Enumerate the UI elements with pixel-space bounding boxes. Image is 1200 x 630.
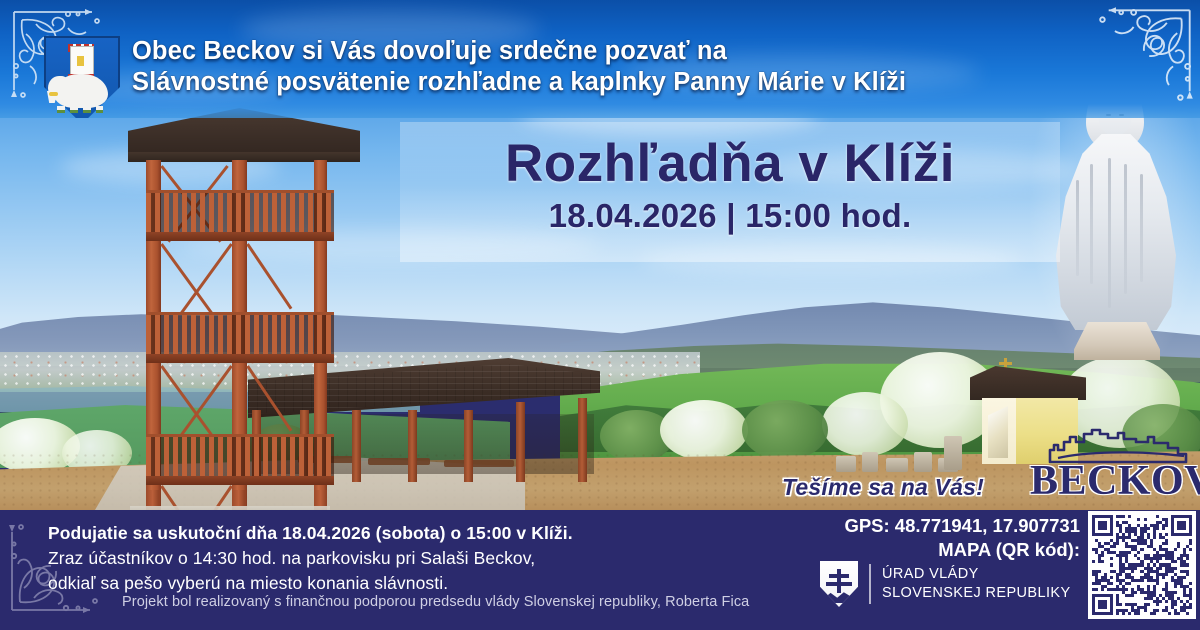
double-cross-arm — [826, 582, 852, 586]
picnic-table — [444, 460, 514, 467]
elephant-hooves — [57, 110, 103, 113]
stone-seat — [914, 452, 932, 472]
gov-line-1: ÚRAD VLÁDY — [882, 565, 1071, 584]
pavilion-column — [408, 410, 417, 482]
wooden-lookout-tower — [128, 108, 360, 510]
map-qr-code[interactable] — [1088, 511, 1196, 619]
tree — [742, 400, 828, 460]
headline-line-1: Obec Beckov si Vás dovoľuje srdečne pozv… — [132, 36, 1092, 67]
detail-line-2: Zraz účastníkov o 14:30 hod. na parkovis… — [48, 546, 768, 571]
robe-fold — [1090, 164, 1093, 284]
gps-coordinates: GPS: 48.771941, 17.907731 — [760, 514, 1080, 538]
statue-robe — [1056, 134, 1176, 330]
tower-railing — [146, 434, 334, 482]
map-qr-label: MAPA (QR kód): — [760, 538, 1080, 562]
gov-line-2: SLOVENSKEJ REPUBLIKY — [882, 584, 1071, 603]
tower-deck — [146, 354, 334, 363]
welcome-text: Tešíme sa na Vás! — [782, 474, 984, 501]
tower-deck — [146, 232, 334, 241]
robe-fold — [1076, 180, 1079, 276]
blossom-tree — [822, 392, 908, 456]
tower-railing — [146, 312, 334, 360]
robe-fold — [1140, 174, 1143, 282]
tower-window — [77, 56, 84, 66]
pavilion-column — [516, 402, 525, 482]
robe-fold — [1124, 164, 1127, 294]
statue-pedestal — [1074, 322, 1160, 360]
stone-seat — [862, 452, 878, 472]
detail-line-3: odkiaľ sa pešo vyberú na miesto konania … — [48, 571, 768, 596]
government-label: ÚRAD VLÁDY SLOVENSKEJ REPUBLIKY — [882, 565, 1071, 603]
pavilion-column — [464, 410, 473, 482]
tower-railing — [146, 190, 334, 238]
gps-block: GPS: 48.771941, 17.907731 MAPA (QR kód): — [760, 514, 1080, 562]
detail-line-1: Podujatie sa uskutoční dňa 18.04.2026 (s… — [48, 521, 768, 546]
event-datetime: 18.04.2026 | 15:00 hod. — [430, 197, 1030, 235]
tower-deck — [146, 476, 334, 485]
tower-brace — [246, 365, 292, 431]
page-title: Rozhľadňa v Klíži — [430, 133, 1030, 194]
stone-pillar — [944, 436, 962, 470]
beckov-logo: BECKOV — [1030, 428, 1198, 506]
event-details: Podujatie sa uskutoční dňa 18.04.2026 (s… — [48, 521, 768, 596]
robe-fold — [1108, 158, 1111, 308]
funding-credit: Projekt bol realizovaný s finančnou podp… — [122, 594, 822, 610]
qr-modules — [1092, 515, 1192, 615]
corner-flourish-icon — [1090, 2, 1198, 110]
headline-line-2: Slávnostné posvätenie rozhľadne a kaplnk… — [132, 67, 1092, 98]
tower-frame — [146, 160, 334, 510]
invitation-headline: Obec Beckov si Vás dovoľuje srdečne pozv… — [132, 36, 1092, 98]
tower-brace — [246, 243, 292, 309]
event-poster: Rozhľadňa v Klíži 18.04.2026 | 15:00 hod… — [0, 0, 1200, 630]
pavilion-column — [578, 398, 587, 482]
blossom-tree — [660, 400, 748, 460]
beckov-wordmark: BECKOV — [1030, 460, 1198, 502]
header-banner: Obec Beckov si Vás dovoľuje srdečne pozv… — [0, 0, 1200, 118]
stone-seat — [886, 458, 908, 472]
slovak-coat-of-arms-icon — [820, 561, 858, 607]
government-logo: ÚRAD VLÁDY SLOVENSKEJ REPUBLIKY — [820, 560, 1082, 608]
stone-seat — [836, 456, 856, 472]
double-cross-arm — [829, 574, 849, 578]
picnic-table — [368, 458, 430, 465]
beckov-coat-of-arms — [44, 36, 116, 118]
divider — [869, 564, 871, 604]
virgin-mary-statue — [1050, 78, 1182, 364]
double-cross — [837, 569, 841, 593]
cross-icon — [999, 362, 1012, 365]
elephant-tusk — [49, 92, 58, 96]
